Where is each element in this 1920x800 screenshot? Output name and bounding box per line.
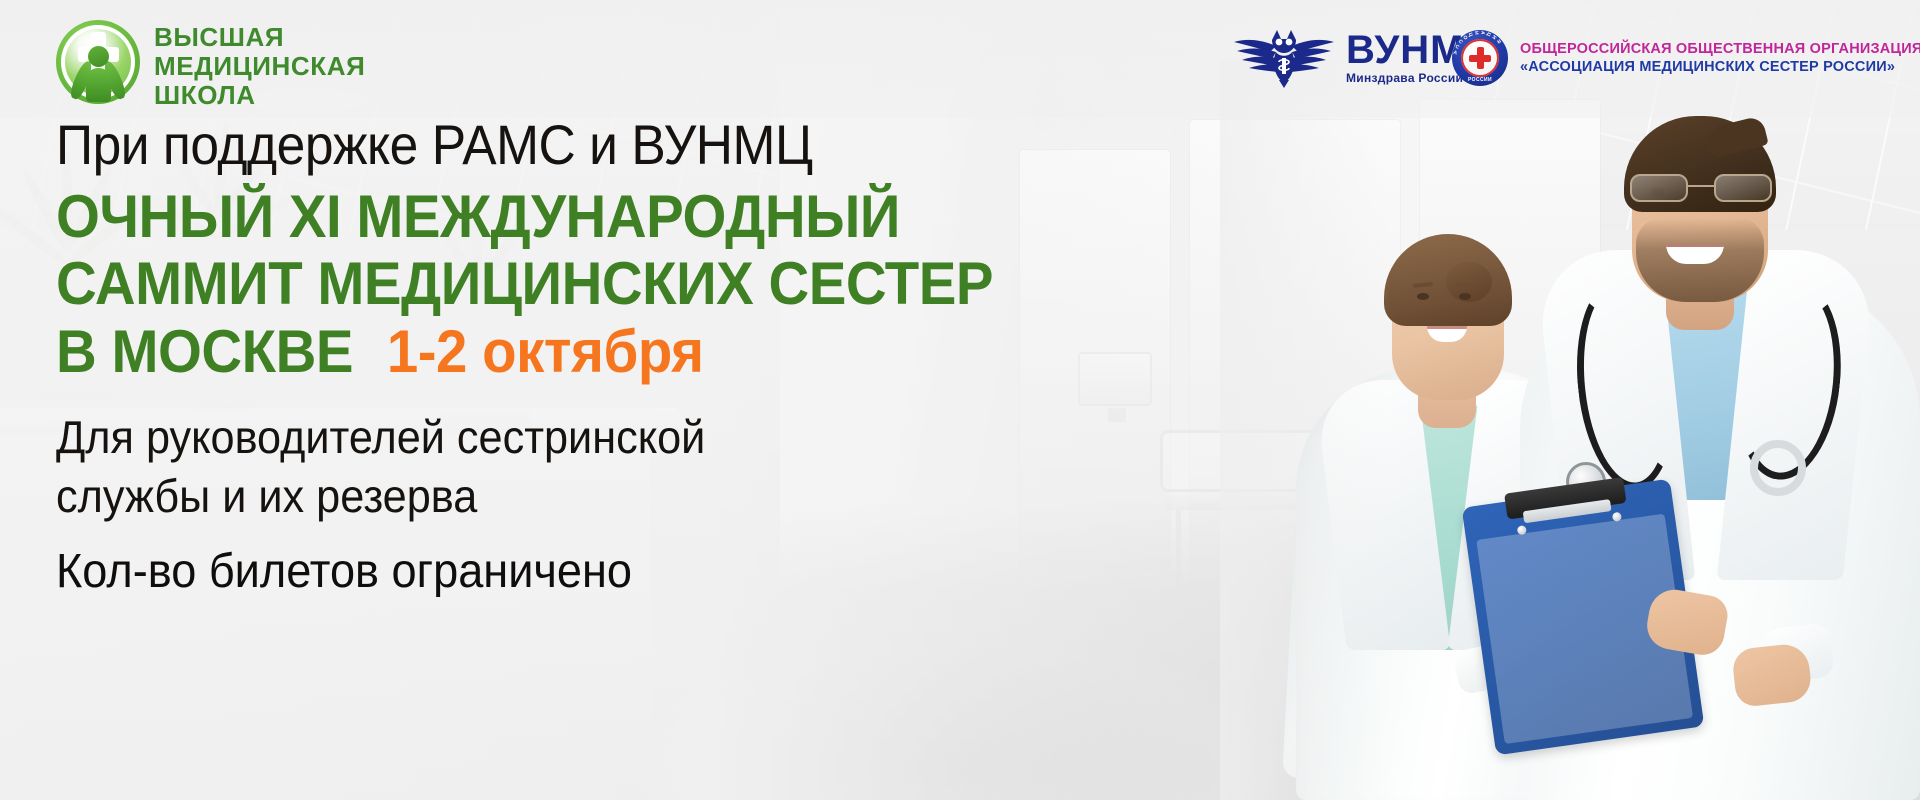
- rams-line-2: «АССОЦИАЦИЯ МЕДИЦИНСКИХ СЕСТЕР РОССИИ»: [1520, 58, 1920, 76]
- eyeglass-lens-right: [1714, 174, 1772, 202]
- owl-emblem-icon: [1232, 26, 1336, 88]
- logo-vysshaya-medicinskaya-shkola[interactable]: ВЫСШАЯ МЕДИЦИНСКАЯ ШКОЛА: [56, 20, 365, 111]
- eyeglass-bridge: [1688, 185, 1714, 187]
- green-circle-cross-person-icon: [56, 20, 140, 104]
- support-line: При поддержке РАМС и ВУНМЦ: [56, 112, 1206, 177]
- rams-circular-emblem-icon: А С С О Ц И А Ц И Я РОССИИ: [1452, 30, 1508, 86]
- availability-note: Кол-во билетов ограничено: [56, 544, 1231, 599]
- rams-line-1: ОБЩЕРОССИЙСКАЯ ОБЩЕСТВЕННАЯ ОРГАНИЗАЦИЯ: [1520, 40, 1920, 58]
- headline-line-3: В МОСКВЕ 1-2 октября: [56, 317, 1231, 386]
- doctor-hand-right: [1731, 642, 1813, 708]
- eyeglasses-icon: [1626, 174, 1776, 204]
- logo-wordmark: ВЫСШАЯ МЕДИЦИНСКАЯ ШКОЛА: [154, 20, 365, 111]
- logo-person-head: [88, 46, 109, 67]
- event-date: 1-2 октября: [387, 317, 704, 386]
- headline-line-2: САММИТ МЕДИЦИНСКИХ СЕСТЕР: [56, 250, 1231, 317]
- rams-wordmark: ОБЩЕРОССИЙСКАЯ ОБЩЕСТВЕННАЯ ОРГАНИЗАЦИЯ …: [1520, 40, 1920, 76]
- logo-rams-association[interactable]: А С С О Ц И А Ц И Я РОССИИ ОБЩЕРОССИЙСКА…: [1452, 30, 1920, 86]
- logo-line-3: ШКОЛА: [154, 82, 365, 108]
- audience-line-1: Для руководителей сестринской: [56, 408, 1231, 467]
- eyeglass-lens-left: [1630, 174, 1688, 202]
- promo-banner: ВЫСШАЯ МЕДИЦИНСКАЯ ШКОЛА: [0, 0, 1920, 800]
- medical-professionals-photo: [1220, 60, 1920, 800]
- stethoscope-earpiece-loop: [1750, 440, 1806, 496]
- audience-line-2: службы и их резерва: [56, 467, 1231, 526]
- logo-line-1: ВЫСШАЯ: [154, 24, 365, 50]
- banner-copy: При поддержке РАМС и ВУНМЦ ОЧНЫЙ XI МЕЖД…: [56, 112, 1306, 599]
- headline-block: ОЧНЫЙ XI МЕЖДУНАРОДНЫЙ САММИТ МЕДИЦИНСКИ…: [56, 183, 1306, 386]
- logo-person-body: [86, 68, 111, 102]
- audience-text: Для руководителей сестринской службы и и…: [56, 408, 1231, 526]
- headline-city: В МОСКВЕ: [56, 317, 353, 386]
- logo-line-2: МЕДИЦИНСКАЯ: [154, 53, 365, 79]
- nurse-eye-right: [1459, 293, 1471, 300]
- nurse-eye-left: [1417, 293, 1429, 300]
- rams-emblem-bottom-text: РОССИИ: [1452, 77, 1508, 83]
- headline-line-1: ОЧНЫЙ XI МЕЖДУНАРОДНЫЙ: [56, 183, 1231, 250]
